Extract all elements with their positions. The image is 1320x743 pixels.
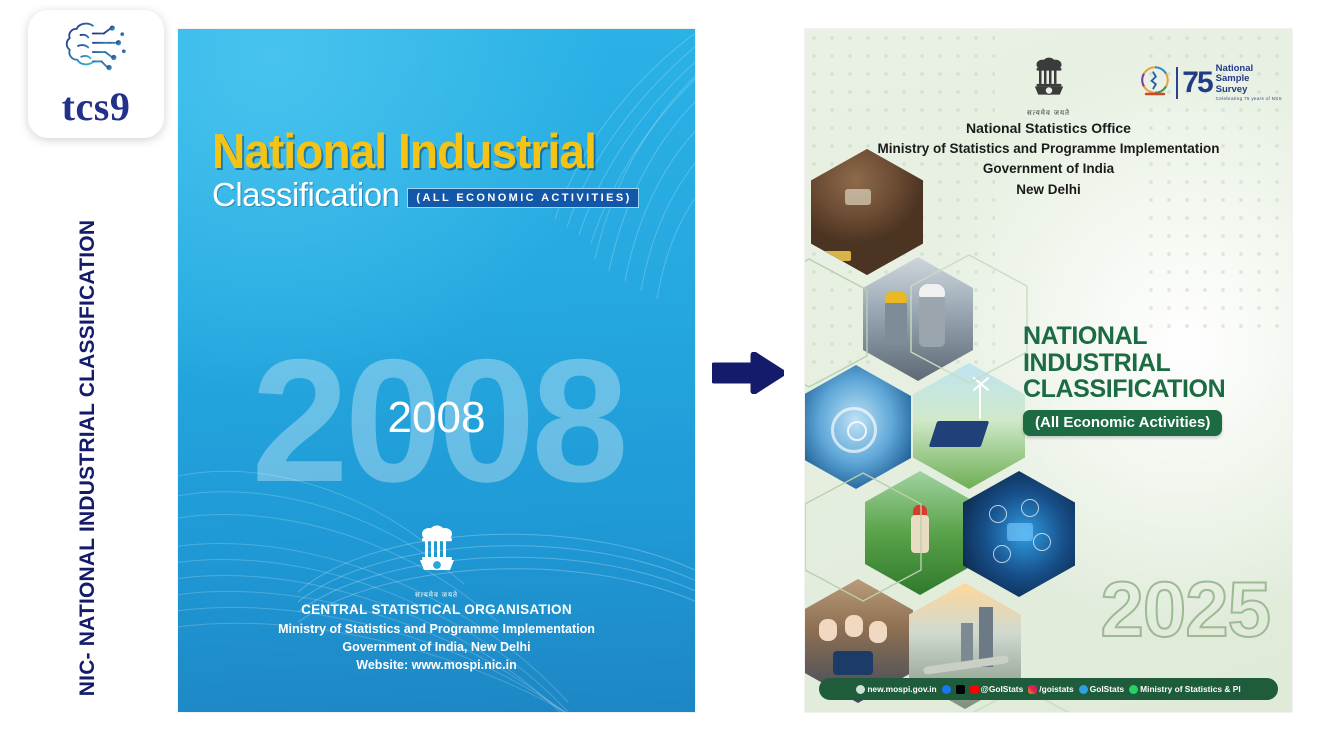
digital-technology-photo (963, 471, 1075, 597)
whatsapp-icon (1129, 685, 1138, 694)
cover-2008-website: Website: www.mospi.nic.in (178, 656, 695, 674)
footer-link-label-instagram: /goistats (1039, 684, 1073, 694)
nss-name-line3: Survey (1216, 85, 1282, 96)
logo-divider (1176, 67, 1178, 99)
cover-2025-footer-bar: new.mospi.gov.in @GoIStats /goistats GoI… (819, 678, 1278, 700)
cover-2008-title-line2: Classification (212, 178, 399, 211)
hexagon-outline (805, 257, 869, 389)
footer-link-youtube[interactable]: @GoIStats (970, 684, 1024, 694)
facebook-icon[interactable] (942, 685, 951, 694)
footer-link-label-whatsapp: Ministry of Statistics & PI (1140, 684, 1241, 694)
ashoka-emblem-icon (178, 525, 695, 587)
nss-tagline: Celebrating 75 years of NSS (1216, 96, 1282, 101)
cover-nic-2008: National Industrial Classification (ALL … (178, 29, 695, 712)
footer-link-instagram[interactable]: /goistats (1028, 684, 1073, 694)
brand-logo-card: tcs9 (28, 10, 164, 138)
vertical-caption: NIC- NATIONAL INDUSTRIAL CLASSIFICATION (76, 188, 100, 728)
cover-2025-title-block: NATIONAL INDUSTRIAL CLASSIFICATION (All … (1023, 323, 1225, 436)
footer-link-label-youtube: @GoIStats (981, 684, 1024, 694)
mso-azadi-icon (1138, 63, 1172, 102)
cover-2025-scope-pill: (All Economic Activities) (1023, 410, 1222, 436)
nss-75-name: National Sample Survey Celebrating 75 ye… (1216, 64, 1282, 102)
cover-2025-office: National Statistics Office (805, 118, 1292, 139)
screenshot-canvas: tcs9 NIC- NATIONAL INDUSTRIAL CLASSIFICA… (0, 0, 1320, 743)
cover-2008-ministry: Ministry of Statistics and Programme Imp… (178, 620, 695, 638)
brain-circuit-icon (57, 18, 135, 85)
telegram-icon (1079, 685, 1088, 694)
youtube-icon (970, 685, 979, 694)
cover-2008-title-block: National Industrial Classification (ALL … (212, 129, 672, 211)
cover-2008-organisation: CENTRAL STATISTICAL ORGANISATION (178, 600, 695, 620)
footer-website[interactable]: new.mospi.gov.in (856, 684, 936, 694)
cover-2025-title-line3: CLASSIFICATION (1023, 376, 1225, 403)
footer-website-label: new.mospi.gov.in (867, 684, 936, 694)
cover-2025-title-line2: INDUSTRIAL (1023, 350, 1225, 377)
cover-nic-2025: सत्यमेव जयते National Statistics Office … (805, 29, 1292, 712)
instagram-icon (1028, 685, 1037, 694)
cover-2008-footer: सत्यमेव जयते CENTRAL STATISTICAL ORGANIS… (178, 525, 695, 674)
emblem-motto: सत्यमेव जयते (805, 109, 1292, 118)
right-arrow-icon (712, 352, 784, 399)
cover-2025-year: 2025 (1100, 570, 1270, 648)
cover-2008-government: Government of India, New Delhi (178, 638, 695, 656)
globe-icon (856, 685, 865, 694)
emblem-motto: सत्यमेव जयते (178, 591, 695, 600)
hexagon-outline (805, 471, 923, 603)
nss-75-number: 75 (1182, 70, 1211, 96)
cover-2008-year: 2008 (178, 393, 695, 443)
cover-2025-title-line1: NATIONAL (1023, 323, 1225, 350)
x-twitter-icon[interactable] (956, 685, 965, 694)
footer-link-whatsapp[interactable]: Ministry of Statistics & PI (1129, 684, 1241, 694)
brand-wordmark: tcs9 (62, 87, 131, 127)
nss-75-logo: 75 National Sample Survey Celebrating 75… (1138, 63, 1282, 102)
cover-2008-scope-badge: (ALL ECONOMIC ACTIVITIES) (407, 188, 638, 208)
hexagon-outline (909, 253, 1029, 385)
footer-link-telegram[interactable]: GoIStats (1079, 684, 1124, 694)
cover-2008-title-line1: National Industrial (212, 129, 644, 176)
footer-link-label-telegram: GoIStats (1090, 684, 1124, 694)
